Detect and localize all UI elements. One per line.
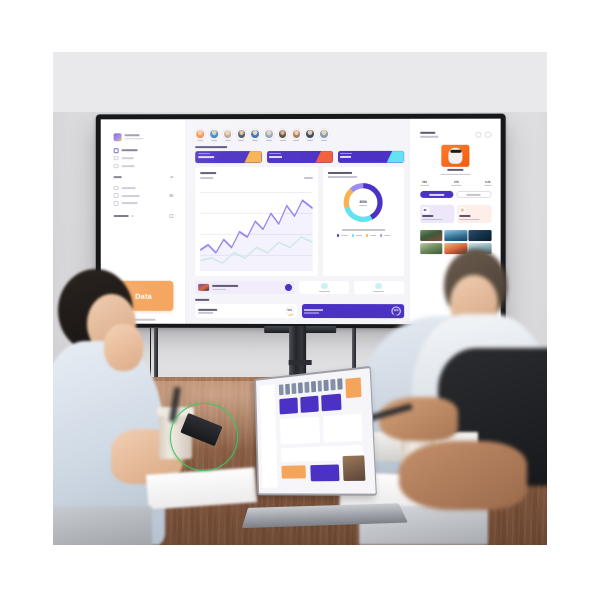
sidebar-item-label xyxy=(121,194,139,196)
avatar-name xyxy=(225,140,231,141)
product-photo: Data xyxy=(53,52,547,545)
hdmi-connector-highlight xyxy=(170,403,238,471)
analytics-events-row: 300k xyxy=(196,167,404,276)
legend-item xyxy=(352,234,362,237)
events-footnote xyxy=(342,229,385,231)
promo-label xyxy=(373,291,384,292)
header-background-band xyxy=(53,52,547,112)
avatar xyxy=(305,129,314,138)
profile-stat-label xyxy=(452,185,462,186)
legend-item xyxy=(366,234,376,237)
legend-swatch xyxy=(337,234,340,237)
analytics-title xyxy=(201,172,217,174)
kpi-label xyxy=(198,153,210,154)
profile-stat-label xyxy=(484,185,491,186)
grid-icon xyxy=(114,148,119,153)
profile-stat: 27k xyxy=(452,179,462,186)
profile-buttons xyxy=(420,191,491,198)
avatar-name xyxy=(211,140,217,141)
sub-greeting-text xyxy=(420,135,438,137)
avatar-item[interactable] xyxy=(319,129,328,141)
avatar-item[interactable] xyxy=(250,129,259,141)
edit-profile-button[interactable] xyxy=(456,191,491,198)
donut-center: 300k xyxy=(341,180,385,225)
video-icon xyxy=(422,207,428,213)
laptop-screen-content xyxy=(256,368,376,494)
avatar-name xyxy=(266,140,272,141)
gallery-thumb[interactable] xyxy=(468,230,491,242)
bookmark-icon[interactable] xyxy=(485,131,491,137)
photos-sub xyxy=(459,219,479,220)
analytics-line-chart xyxy=(201,182,313,271)
sidebar-item-label xyxy=(121,149,137,151)
sidebar-group-label xyxy=(114,176,122,178)
videos-sub xyxy=(422,219,442,220)
sidebar-item-activity[interactable] xyxy=(114,154,173,162)
avatar-name xyxy=(238,140,244,141)
sidebar-item-monetization[interactable] xyxy=(114,199,173,207)
avatar-name xyxy=(293,140,299,141)
stat-title xyxy=(304,308,323,310)
sidebar-item-product-promotion[interactable] xyxy=(114,191,173,199)
chart-icon xyxy=(321,282,328,289)
avatar xyxy=(223,129,232,138)
photos-label xyxy=(459,215,470,217)
promo-subtitle xyxy=(212,288,226,289)
brand-text xyxy=(125,134,144,139)
avatar xyxy=(250,129,259,138)
view-profile-button[interactable] xyxy=(420,191,453,198)
sidebar-item-settings[interactable] xyxy=(114,162,173,170)
profile-stat-value: 4.2k xyxy=(485,179,491,183)
photo-icon xyxy=(459,207,465,213)
person-hand xyxy=(104,324,143,371)
sidebar-media-nav xyxy=(114,184,173,207)
weekly-target-value: 65% xyxy=(285,306,295,316)
avatar-name xyxy=(280,140,286,141)
analytics-card xyxy=(196,167,318,276)
legend-swatch xyxy=(366,234,369,237)
broadcast-icon xyxy=(114,185,119,190)
avatar-item[interactable] xyxy=(278,129,287,141)
laptop-keyboard-base xyxy=(242,503,408,528)
favourites-label xyxy=(114,215,129,217)
avatar xyxy=(264,129,273,138)
avatar-item[interactable] xyxy=(305,129,314,141)
sidebar-favourites-header xyxy=(114,214,173,218)
laptop-edge-left xyxy=(53,506,152,545)
chat-icon[interactable] xyxy=(475,131,481,137)
kpi-value xyxy=(269,156,282,158)
videos-tile[interactable] xyxy=(420,204,454,222)
event-distribution-card: 300k xyxy=(323,167,404,276)
profile-stat: 4.2k xyxy=(484,179,491,186)
source-laptop xyxy=(246,372,404,530)
legend-label xyxy=(356,234,362,235)
videos-label xyxy=(422,215,433,217)
avatar-item[interactable] xyxy=(223,129,232,141)
profile-stat-value: 784 xyxy=(422,179,427,183)
brand xyxy=(114,132,173,140)
profile-summary: 784 27k 4.2k xyxy=(420,144,491,197)
view-profile-label xyxy=(429,193,444,195)
profile-panel-header xyxy=(420,131,491,138)
brand-tagline xyxy=(125,137,144,138)
gallery-thumb[interactable] xyxy=(420,230,443,242)
kpi-value xyxy=(340,156,351,158)
greeting-text xyxy=(420,131,435,133)
sidebar-item-badge xyxy=(169,194,173,197)
sidebar-group-media xyxy=(114,176,173,178)
kpi-label xyxy=(340,153,352,154)
pulse-icon xyxy=(114,156,119,161)
avatar xyxy=(196,129,205,138)
sidebar-item-label xyxy=(121,202,137,204)
kpi-section-title xyxy=(196,145,404,148)
bell-icon[interactable] xyxy=(285,284,292,291)
legend-label xyxy=(370,235,376,236)
analytics-subtitle xyxy=(201,177,214,179)
profile-display-name xyxy=(448,169,464,171)
chevron-down-icon[interactable] xyxy=(170,176,173,178)
avatar-name xyxy=(197,140,203,141)
promo-row xyxy=(196,280,404,294)
avatar-item[interactable] xyxy=(196,129,205,141)
promo-title xyxy=(212,285,238,287)
tv-stand-rung xyxy=(289,360,312,364)
sidebar-item-label xyxy=(121,187,135,189)
profile-stat-value: 27k xyxy=(454,179,459,183)
weekly-target-gauge: 65% xyxy=(285,306,295,316)
profile-stat: 784 xyxy=(420,179,429,186)
events-title xyxy=(328,171,352,173)
sidebar-item-dashboard[interactable] xyxy=(114,146,173,154)
avatar-item[interactable] xyxy=(264,129,273,141)
analytics-range-selector[interactable] xyxy=(304,176,313,178)
kpi-accent xyxy=(387,151,404,163)
coin-icon xyxy=(114,201,119,206)
legend-label xyxy=(384,235,390,236)
avatar xyxy=(209,129,218,138)
brand-logo-icon xyxy=(114,132,122,140)
promo-label xyxy=(319,291,330,292)
legend-item xyxy=(380,234,390,237)
media-tiles xyxy=(420,204,491,222)
sidebar-nav xyxy=(114,146,173,169)
avatar xyxy=(319,129,328,138)
avatar xyxy=(237,129,246,138)
avatar xyxy=(278,129,287,138)
gallery-thumb[interactable] xyxy=(444,230,467,242)
donut-center-label xyxy=(359,205,367,206)
kpi-accent xyxy=(315,151,332,163)
team-avatar-row xyxy=(196,129,404,141)
favourites-count xyxy=(131,215,134,217)
legend-label xyxy=(341,234,348,235)
photos-tile[interactable] xyxy=(457,204,491,222)
kpi-card[interactable] xyxy=(267,151,333,163)
gear-icon xyxy=(114,163,119,168)
avatar-item[interactable] xyxy=(209,129,218,141)
donut-center-value: 300k xyxy=(359,200,367,204)
add-favourite-icon[interactable] xyxy=(169,214,173,218)
kpi-card-row xyxy=(196,151,404,163)
hand-right-front xyxy=(399,441,527,510)
brand-name xyxy=(125,134,140,136)
edit-profile-label xyxy=(467,193,481,195)
avatar-item[interactable] xyxy=(237,129,246,141)
profile-avatar-image xyxy=(441,144,470,166)
legend-item xyxy=(337,234,348,237)
profile-stat-label xyxy=(420,185,429,186)
legend-swatch xyxy=(380,234,383,237)
sidebar-item-broadcast[interactable] xyxy=(114,184,173,192)
link-icon xyxy=(376,282,383,289)
laptop-screen xyxy=(255,366,378,496)
promo-card[interactable] xyxy=(354,280,404,294)
kpi-card[interactable] xyxy=(338,151,404,163)
avatar-name xyxy=(321,140,327,141)
sidebar-item-label xyxy=(121,165,134,167)
avatar-name xyxy=(252,140,258,141)
stat-subtitle xyxy=(304,312,319,313)
profile-role xyxy=(441,173,471,174)
dashboard-main: 300k xyxy=(186,118,410,323)
kpi-label xyxy=(269,153,281,154)
kpi-section xyxy=(196,145,404,162)
kpi-accent xyxy=(244,151,261,163)
promo-card[interactable] xyxy=(299,280,349,294)
kpi-card[interactable] xyxy=(196,151,262,163)
events-legend xyxy=(331,234,395,237)
avatar-item[interactable] xyxy=(292,129,301,141)
tag-icon xyxy=(114,193,119,198)
avatar xyxy=(292,129,301,138)
profile-stats: 784 27k 4.2k xyxy=(420,179,491,186)
legend-swatch xyxy=(352,234,355,237)
avatar-name xyxy=(307,140,313,141)
sidebar-item-label xyxy=(121,157,133,159)
screenshot-root: Data xyxy=(0,0,600,600)
section-title-text xyxy=(196,145,228,147)
events-subtitle xyxy=(328,176,357,178)
kpi-value xyxy=(198,156,214,158)
events-donut-chart: 300k xyxy=(341,180,385,225)
